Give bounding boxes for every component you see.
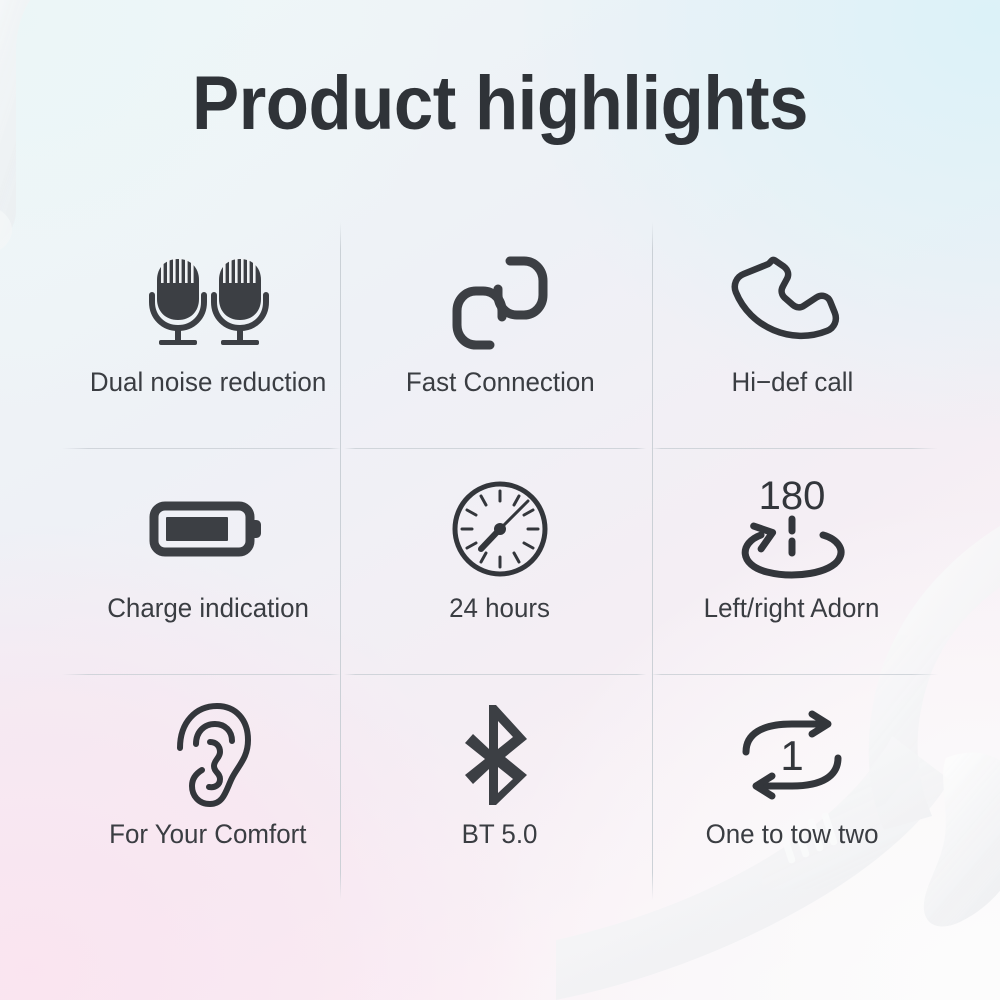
bluetooth-icon: [461, 696, 539, 814]
feature-label: One to tow two: [706, 820, 879, 850]
feature-cell-24-hours: 24 hours: [354, 448, 646, 674]
chain-link-icon: [450, 244, 550, 362]
feature-cell-fast-connection: Fast Connection: [354, 222, 646, 448]
feature-cell-bt-5-0: BT 5.0: [354, 674, 646, 900]
ear-icon: [162, 696, 254, 814]
repeat-one-icon: 1: [734, 696, 850, 814]
feature-label: 24 hours: [450, 594, 551, 624]
feature-cell-charge-indication: Charge indication: [62, 448, 354, 674]
rotate-180-icon: 180: [727, 470, 857, 588]
rotate-degrees-label: 180: [759, 474, 826, 518]
feature-cell-one-to-two: 1 One to tow two: [646, 674, 938, 900]
feature-cell-dual-noise-reduction: Dual noise reduction: [62, 222, 354, 448]
repeat-count-label: 1: [780, 732, 803, 779]
clock-icon: [448, 470, 552, 588]
phone-handset-icon: [738, 244, 846, 362]
product-highlights-banner: Product highlights: [0, 0, 1000, 1000]
feature-label: Charge indication: [107, 594, 309, 624]
feature-grid: Dual noise reduction Fast Connection: [62, 222, 938, 900]
feature-label: Fast Connection: [406, 368, 595, 398]
feature-label: BT 5.0: [462, 820, 538, 850]
feature-cell-left-right-adorn: 180 Left/right Adorn: [646, 448, 938, 674]
feature-cell-for-your-comfort: For Your Comfort: [62, 674, 354, 900]
page-title: Product highlights: [35, 66, 965, 142]
battery-icon: [150, 470, 266, 588]
feature-cell-hi-def-call: Hi−def call: [646, 222, 938, 448]
dual-microphone-icon: [144, 244, 272, 362]
feature-label: For Your Comfort: [109, 820, 306, 850]
feature-label: Left/right Adorn: [704, 594, 880, 624]
feature-label: Hi−def call: [731, 368, 853, 398]
feature-label: Dual noise reduction: [90, 368, 326, 398]
